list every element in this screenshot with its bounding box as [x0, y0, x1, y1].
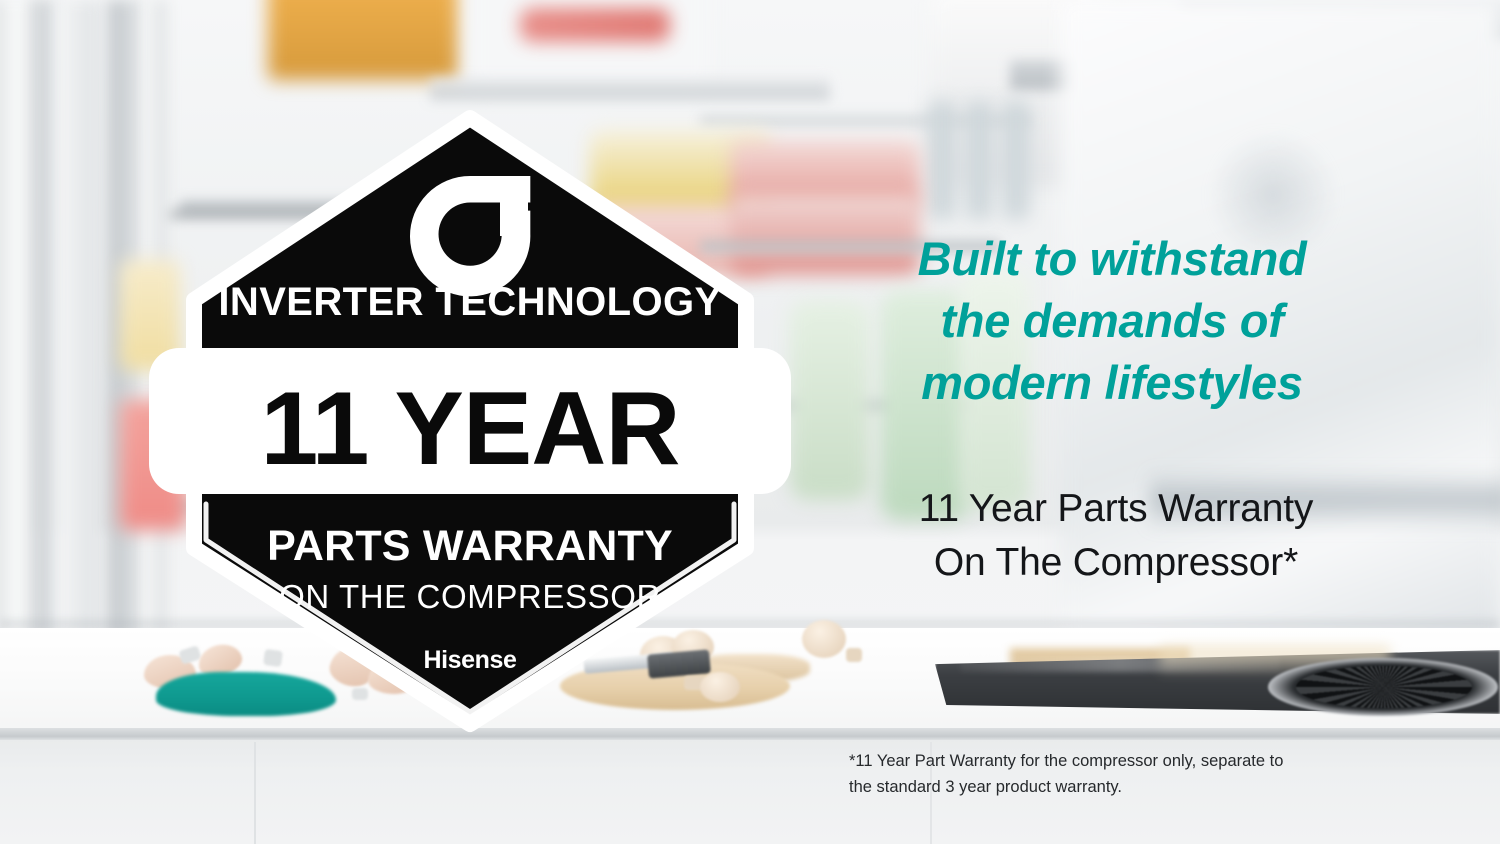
fridge-door-frame — [58, 0, 100, 640]
badge-bottom-sub-label: ON THE COMPRESSOR — [279, 578, 661, 615]
hisense-logo: Hisense — [423, 646, 517, 674]
fridge-shelf — [430, 78, 830, 100]
headline-line: Built to withstand — [852, 228, 1372, 290]
footnote: *11 Year Part Warranty for the compresso… — [849, 748, 1409, 800]
fridge-shelf-item — [965, 100, 993, 220]
footnote-line: *11 Year Part Warranty for the compresso… — [849, 748, 1409, 774]
fridge-door-frame — [34, 0, 60, 640]
mushroom — [802, 620, 846, 658]
headline: Built to withstand the demands of modern… — [852, 228, 1372, 414]
warranty-badge: INVERTER TECHNOLOGY 11 YEAR PARTS WARRAN… — [150, 100, 790, 740]
subheadline-line: On The Compressor* — [836, 536, 1396, 590]
subheadline: 11 Year Parts Warranty On The Compressor… — [836, 482, 1396, 590]
badge-bottom-label: PARTS WARRANTY — [267, 522, 673, 570]
subheadline-line: 11 Year Parts Warranty — [836, 482, 1396, 536]
badge-banner-label: 11 YEAR — [261, 371, 680, 487]
fridge-shelf-item — [520, 8, 670, 42]
cabinet-seam — [254, 742, 256, 844]
fridge-shelf-item — [1002, 100, 1030, 220]
badge-top-label: INVERTER TECHNOLOGY — [218, 280, 721, 324]
mushroom-stem — [846, 648, 862, 662]
footnote-line: the standard 3 year product warranty. — [849, 774, 1409, 800]
fridge-shelf-item — [928, 100, 956, 220]
fridge-shelf-item — [268, 0, 458, 80]
headline-line: the demands of — [852, 290, 1372, 352]
fridge-door-frame — [0, 0, 38, 640]
headline-line: modern lifestyles — [852, 352, 1372, 414]
cooktop-burner-grate — [1296, 666, 1472, 708]
